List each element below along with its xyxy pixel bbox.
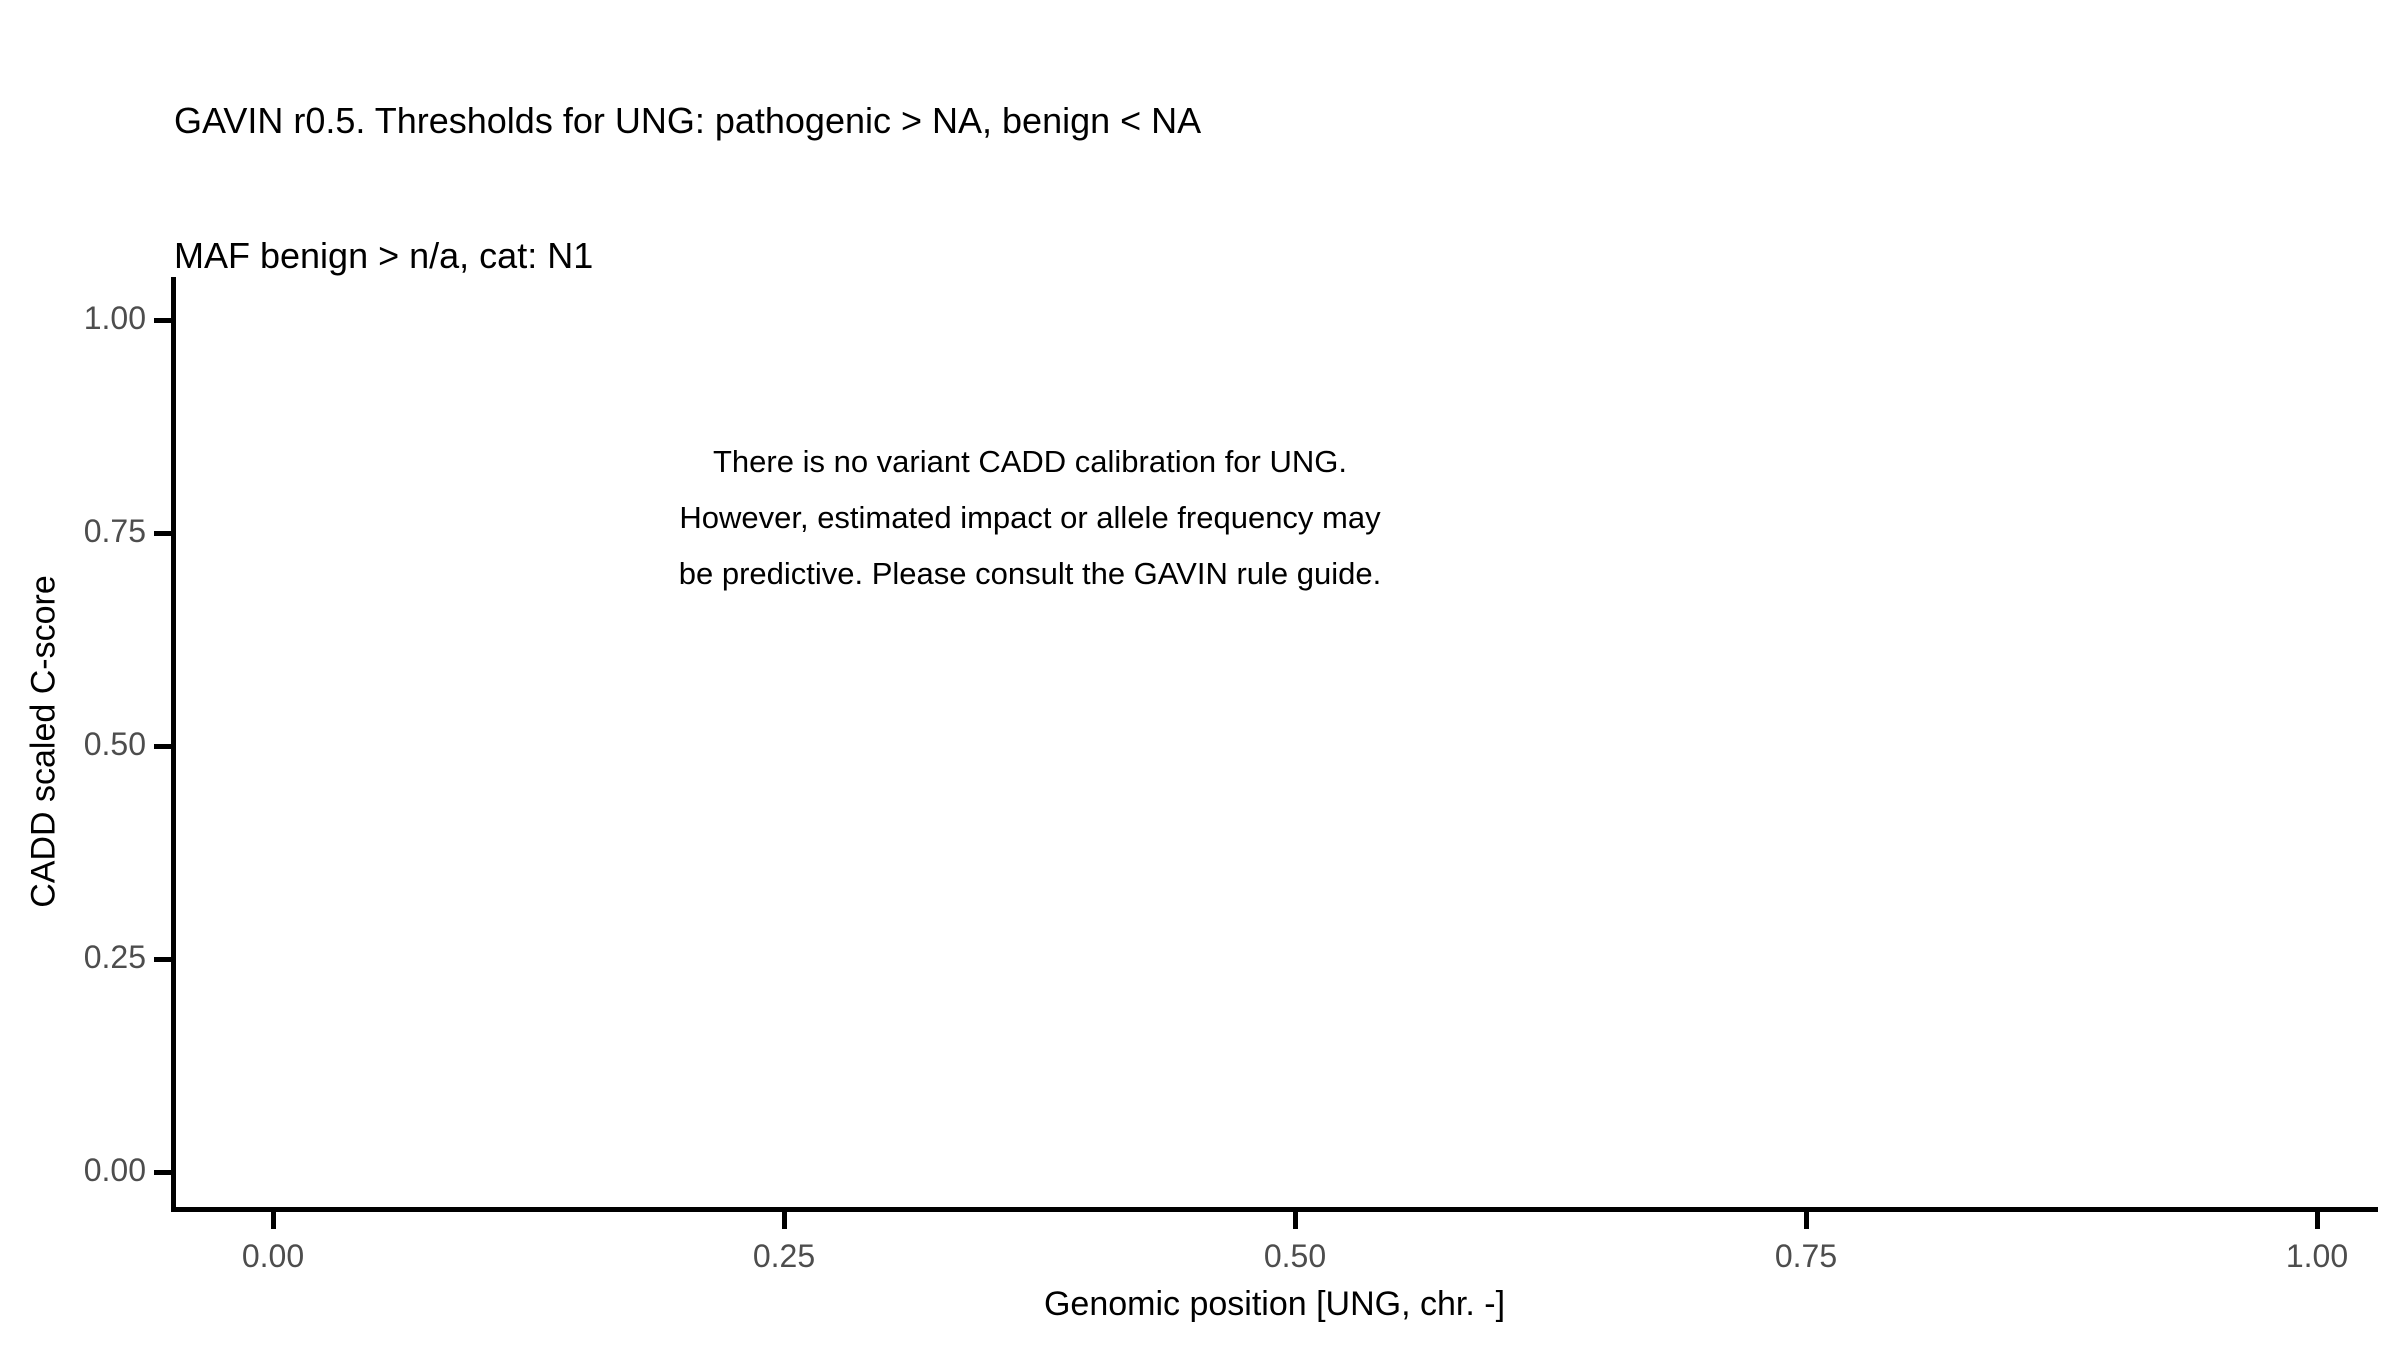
x-axis-title: Genomic position [UNG, chr. -]	[171, 1285, 2378, 1324]
y-tick-mark-2	[154, 744, 171, 749]
y-tick-mark-4	[154, 318, 171, 323]
y-tick-label-1: 0.25	[84, 939, 146, 976]
y-tick-label-2: 0.50	[84, 726, 146, 763]
x-tick-label-2: 0.50	[1195, 1238, 1395, 1275]
x-tick-mark-2	[1293, 1212, 1298, 1229]
plot-title-line-1: GAVIN r0.5. Thresholds for UNG: pathogen…	[174, 98, 2174, 143]
x-tick-label-4: 1.00	[2217, 1238, 2400, 1275]
x-tick-mark-1	[782, 1212, 787, 1229]
x-tick-mark-4	[2315, 1212, 2320, 1229]
panel-annotation: There is no variant CADD calibration for…	[480, 434, 1580, 602]
panel-annotation-line-1: There is no variant CADD calibration for…	[480, 434, 1580, 490]
y-tick-label-0: 0.00	[84, 1152, 146, 1189]
x-axis-line	[171, 1207, 2378, 1212]
y-tick-mark-3	[154, 531, 171, 536]
y-tick-label-4: 1.00	[84, 300, 146, 337]
x-tick-label-3: 0.75	[1706, 1238, 1906, 1275]
panel-annotation-line-3: be predictive. Please consult the GAVIN …	[480, 546, 1580, 602]
y-tick-mark-0	[154, 1170, 171, 1175]
x-tick-mark-0	[271, 1212, 276, 1229]
y-tick-mark-1	[154, 957, 171, 962]
x-tick-label-1: 0.25	[684, 1238, 884, 1275]
plot-title-line-2: MAF benign > n/a, cat: N1	[174, 233, 2174, 278]
y-axis-line	[171, 277, 176, 1211]
y-axis-title: CADD scaled C-score	[25, 492, 64, 992]
y-tick-label-3: 0.75	[84, 513, 146, 550]
panel-annotation-line-2: However, estimated impact or allele freq…	[480, 490, 1580, 546]
plot-panel	[174, 277, 2378, 1211]
chart-canvas: GAVIN r0.5. Thresholds for UNG: pathogen…	[0, 0, 2400, 1350]
x-tick-mark-3	[1804, 1212, 1809, 1229]
x-tick-label-0: 0.00	[173, 1238, 373, 1275]
